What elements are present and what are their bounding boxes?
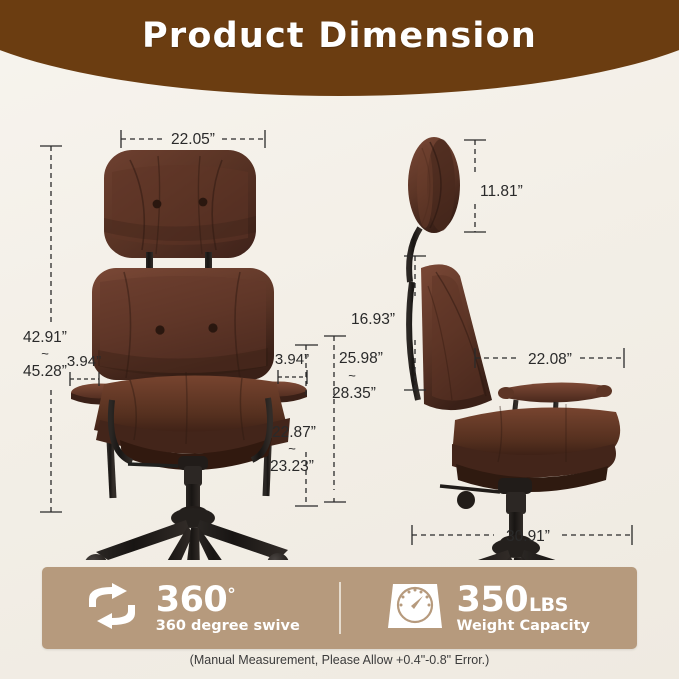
feature-weight-caption: Weight Capacity xyxy=(456,618,590,634)
label-seat-height-max: 23.23” xyxy=(270,458,314,475)
label-armrest-left-width: 3.94” xyxy=(67,353,101,370)
label-seat-depth: 22.08” xyxy=(528,351,572,368)
feature-swivel-text: 360 ° 360 degree swive xyxy=(156,583,300,634)
side-headrest-post xyxy=(409,228,420,282)
label-height-range-separator-1: ~ xyxy=(41,346,49,361)
feature-bar: 360 ° 360 degree swive xyxy=(42,567,637,649)
label-armrest-right-width: 3.94” xyxy=(275,351,309,368)
illustration-stage: 22.05” 3.94” 3.94” 42.91” ~ 45.28” 25.98… xyxy=(0,100,679,560)
feature-divider xyxy=(339,582,341,634)
label-total-height-min: 42.91” xyxy=(23,329,67,346)
feature-weight-unit: LBS xyxy=(529,596,568,615)
feature-weight-capacity: 350 LBS Weight Capacity xyxy=(341,580,638,637)
side-mechanism-housing xyxy=(498,478,532,494)
feature-swivel-unit: ° xyxy=(227,587,235,604)
label-height-range-separator-2: ~ xyxy=(348,368,356,383)
side-view-chair xyxy=(406,137,622,560)
weight-scale-icon xyxy=(387,580,443,637)
label-seat-height-min: 22.87” xyxy=(272,424,316,441)
feature-weight-value: 350 xyxy=(456,583,528,618)
side-backrest xyxy=(421,264,492,410)
feature-weight-text: 350 LBS Weight Capacity xyxy=(456,583,590,634)
measurement-disclaimer: (Manual Measurement, Please Allow +0.4"-… xyxy=(0,653,679,667)
feature-swivel-value-row: 360 ° xyxy=(156,583,300,618)
feature-swivel-value: 360 xyxy=(156,583,228,618)
label-base-width: 30.91” xyxy=(506,528,550,545)
label-total-height-max: 45.28” xyxy=(23,363,67,380)
front-view-chair xyxy=(71,150,307,560)
page-title: Product Dimension xyxy=(0,16,679,56)
front-base-star xyxy=(96,508,288,560)
side-cylinder-upper xyxy=(506,492,526,514)
front-seat-cushion xyxy=(94,372,290,454)
side-frame-spine xyxy=(409,282,418,400)
label-seat-back-height-min: 25.98” xyxy=(339,350,383,367)
rotate-360-icon xyxy=(81,583,143,634)
label-headrest-height: 11.81” xyxy=(480,183,523,200)
feature-swivel-caption: 360 degree swive xyxy=(156,618,300,634)
label-backrest-width: 22.05” xyxy=(171,131,215,148)
product-dimension-infographic: Product Dimension xyxy=(0,0,679,679)
front-cylinder-upper xyxy=(184,466,202,486)
label-seat-back-height-max: 28.35” xyxy=(332,385,376,402)
side-headrest xyxy=(408,137,460,233)
feature-weight-value-row: 350 LBS xyxy=(456,583,590,618)
label-height-range-separator-3: ~ xyxy=(288,441,296,456)
feature-swivel: 360 ° 360 degree swive xyxy=(42,583,339,634)
front-tilt-lever[interactable] xyxy=(128,464,178,466)
front-headrest xyxy=(104,150,256,258)
side-seat-cushion xyxy=(452,404,620,478)
label-backrest-height: 16.93” xyxy=(351,311,395,328)
front-backrest xyxy=(92,268,274,380)
